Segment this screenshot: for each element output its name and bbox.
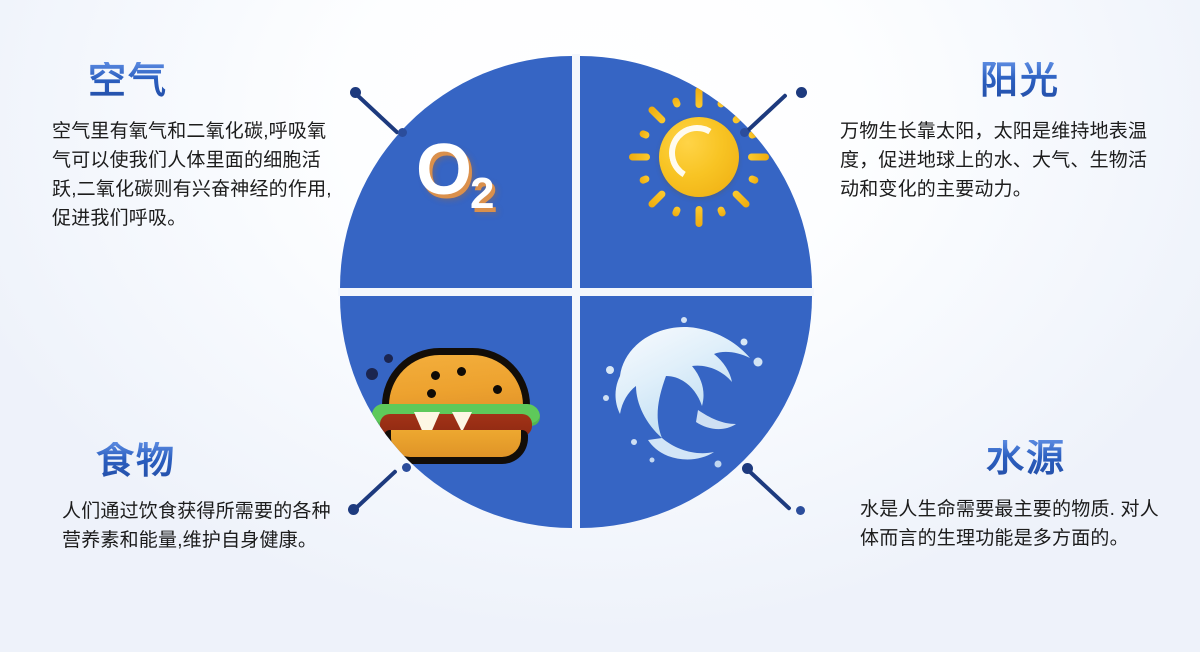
burger-icon xyxy=(368,346,544,470)
sun-ray-icon xyxy=(639,174,651,184)
sun-connector xyxy=(738,86,808,146)
connector-dot xyxy=(348,504,359,515)
sun-ray-icon xyxy=(696,206,703,227)
connector-dot xyxy=(740,128,749,137)
sun-ray-icon xyxy=(716,97,726,109)
air-text-block: 空气 空气里有氧气和二氧化碳,呼吸氧气可以使我们人体里面的细胞活跃,二氧化碳则有… xyxy=(52,62,334,234)
sun-body-text: 万物生长靠太阳，太阳是维持地表温度，促进地球上的水、大气、生物活动和变化的主要动… xyxy=(840,118,1160,205)
sesame-seed-icon xyxy=(427,389,436,398)
sesame-seed-icon xyxy=(493,385,502,394)
sun-ray-icon xyxy=(639,129,651,139)
food-body-text: 人们通过饮食获得所需要的各种营养素和能量,维护自身健康。 xyxy=(62,498,332,556)
sun-ray-icon xyxy=(748,154,769,161)
burger-top-bun xyxy=(382,348,530,410)
sun-ray-icon xyxy=(671,97,681,109)
connector-dot xyxy=(402,463,411,472)
sun-disc xyxy=(659,117,739,197)
sun-ray-icon xyxy=(671,206,681,218)
sesame-seed-icon xyxy=(431,371,440,380)
connector-dot xyxy=(350,87,361,98)
connector-dot xyxy=(742,463,753,474)
food-text-block: 食物 人们通过饮食获得所需要的各种营养素和能量,维护自身健康。 xyxy=(62,442,332,556)
air-body-text: 空气里有氧气和二氧化碳,呼吸氧气可以使我们人体里面的细胞活跃,二氧化碳则有兴奋神… xyxy=(52,118,334,234)
connector-line xyxy=(355,93,400,135)
sun-ray-icon xyxy=(647,189,667,209)
connector-line xyxy=(353,469,398,511)
water-text-block: 水源 水是人生命需要最主要的物质. 对人体而言的生理功能是多方面的。 xyxy=(860,440,1160,554)
connector-line xyxy=(743,93,788,135)
connector-line xyxy=(747,469,792,511)
sun-ray-icon xyxy=(696,87,703,108)
sun-ray-icon xyxy=(748,174,760,184)
water-splash-icon xyxy=(598,314,784,474)
air-connector xyxy=(350,86,420,146)
infographic-canvas: O2 xyxy=(0,0,1200,652)
water-connector xyxy=(740,462,810,522)
sun-text-block: 阳光 万物生长靠太阳，太阳是维持地表温度，促进地球上的水、大气、生物活动和变化的… xyxy=(840,62,1160,205)
food-connector xyxy=(348,462,418,522)
connector-dot xyxy=(398,128,407,137)
connector-dot xyxy=(796,87,807,98)
o2-text-icon: O2 xyxy=(416,134,495,216)
sun-ray-icon xyxy=(716,206,726,218)
connector-dot xyxy=(796,506,805,515)
quadrant-divider-horizontal xyxy=(338,288,814,296)
water-body-text: 水是人生命需要最主要的物质. 对人体而言的生理功能是多方面的。 xyxy=(860,496,1160,554)
burger-blob-icon xyxy=(384,354,393,363)
burger-bottom-bun xyxy=(384,430,528,464)
sun-ray-icon xyxy=(647,105,667,125)
water-heading: 水源 xyxy=(986,440,1160,478)
sun-ray-icon xyxy=(629,154,650,161)
burger-cheese xyxy=(452,412,472,432)
food-heading: 食物 xyxy=(96,442,332,480)
sun-heading: 阳光 xyxy=(980,62,1160,100)
air-heading: 空气 xyxy=(88,62,334,100)
burger-blob-icon xyxy=(366,368,378,380)
sun-ray-icon xyxy=(731,189,751,209)
sesame-seed-icon xyxy=(457,367,466,376)
